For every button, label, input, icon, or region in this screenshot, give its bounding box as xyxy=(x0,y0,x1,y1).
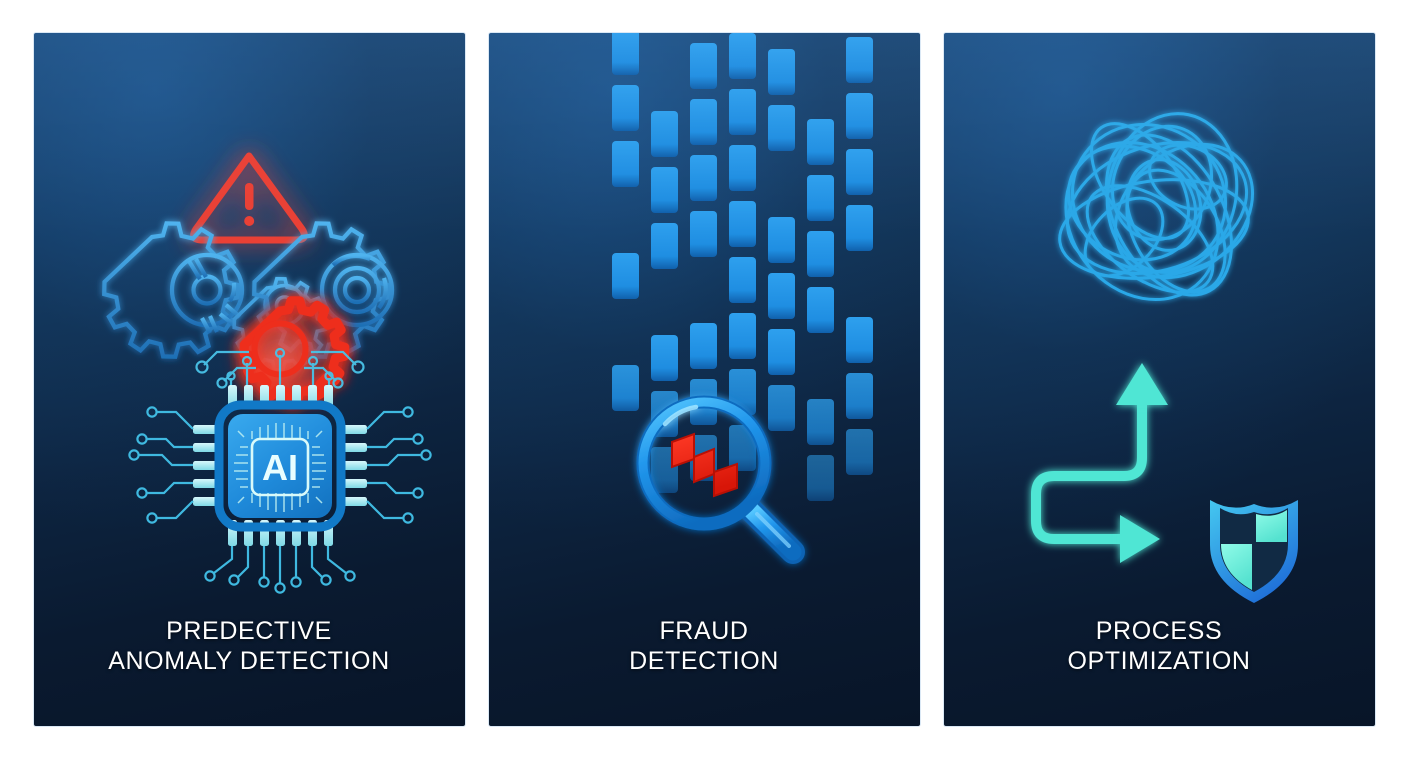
predictive-anomaly-artwork: AI xyxy=(34,33,465,608)
data-block xyxy=(651,335,678,381)
card-title-line1: PREDECTIVE xyxy=(166,616,332,646)
data-block xyxy=(690,155,717,201)
data-block xyxy=(807,119,834,165)
card-title-predictive: PREDECTIVE ANOMALY DETECTION xyxy=(34,608,465,726)
shield-icon xyxy=(1210,500,1298,603)
card-process-optimization[interactable]: PROCESS OPTIMIZATION xyxy=(944,33,1375,726)
data-block xyxy=(846,429,873,475)
data-block xyxy=(807,399,834,445)
card-title-line2: OPTIMIZATION xyxy=(1067,646,1250,676)
data-block xyxy=(768,49,795,95)
card-title-line1: FRAUD xyxy=(659,616,748,646)
chip-pins-left-icon xyxy=(129,407,219,522)
card-title-line1: PROCESS xyxy=(1096,616,1222,646)
card-title-fraud: FRAUD DETECTION xyxy=(489,608,920,726)
data-block xyxy=(768,217,795,263)
data-block xyxy=(729,201,756,247)
arrow-path-icon xyxy=(1036,382,1142,539)
data-block xyxy=(846,37,873,83)
data-block xyxy=(690,43,717,89)
data-block xyxy=(807,231,834,277)
data-block xyxy=(807,287,834,333)
data-block xyxy=(690,99,717,145)
tangled-scribble-icon xyxy=(1034,97,1279,331)
data-block xyxy=(729,33,756,79)
data-block xyxy=(651,167,678,213)
cards-board: AI PREDECTIVE ANOMALY DETECTION xyxy=(0,0,1408,768)
data-block xyxy=(846,205,873,251)
chip-pins-right-icon xyxy=(341,407,431,522)
data-block xyxy=(690,211,717,257)
arrow-right-icon xyxy=(1120,515,1160,563)
arrow-up-icon xyxy=(1116,363,1168,405)
data-block xyxy=(729,89,756,135)
data-block xyxy=(807,175,834,221)
card-fraud-detection[interactable]: FRAUD DETECTION xyxy=(489,33,920,726)
data-block xyxy=(729,257,756,303)
data-block xyxy=(729,145,756,191)
card-predictive-anomaly-detection[interactable]: AI PREDECTIVE ANOMALY DETECTION xyxy=(34,33,465,726)
data-block xyxy=(768,329,795,375)
card-title-process: PROCESS OPTIMIZATION xyxy=(944,608,1375,726)
data-block xyxy=(651,111,678,157)
ai-chip-icon: AI xyxy=(219,405,341,527)
data-block xyxy=(612,253,639,299)
card-title-line2: DETECTION xyxy=(629,646,779,676)
data-block xyxy=(846,149,873,195)
data-block xyxy=(612,365,639,411)
data-block xyxy=(612,85,639,131)
fraud-detection-artwork xyxy=(489,33,920,608)
data-block xyxy=(768,273,795,319)
data-block xyxy=(729,313,756,359)
data-block xyxy=(846,93,873,139)
process-optimization-artwork xyxy=(944,33,1375,608)
data-block xyxy=(807,455,834,501)
data-block xyxy=(612,33,639,75)
data-block xyxy=(651,223,678,269)
data-block xyxy=(768,385,795,431)
data-block xyxy=(768,105,795,151)
data-block xyxy=(690,323,717,369)
data-block xyxy=(612,141,639,187)
chip-label: AI xyxy=(262,447,298,488)
card-title-line2: ANOMALY DETECTION xyxy=(108,646,390,676)
warning-triangle-icon xyxy=(193,156,304,240)
data-block xyxy=(846,373,873,419)
data-block xyxy=(846,317,873,363)
